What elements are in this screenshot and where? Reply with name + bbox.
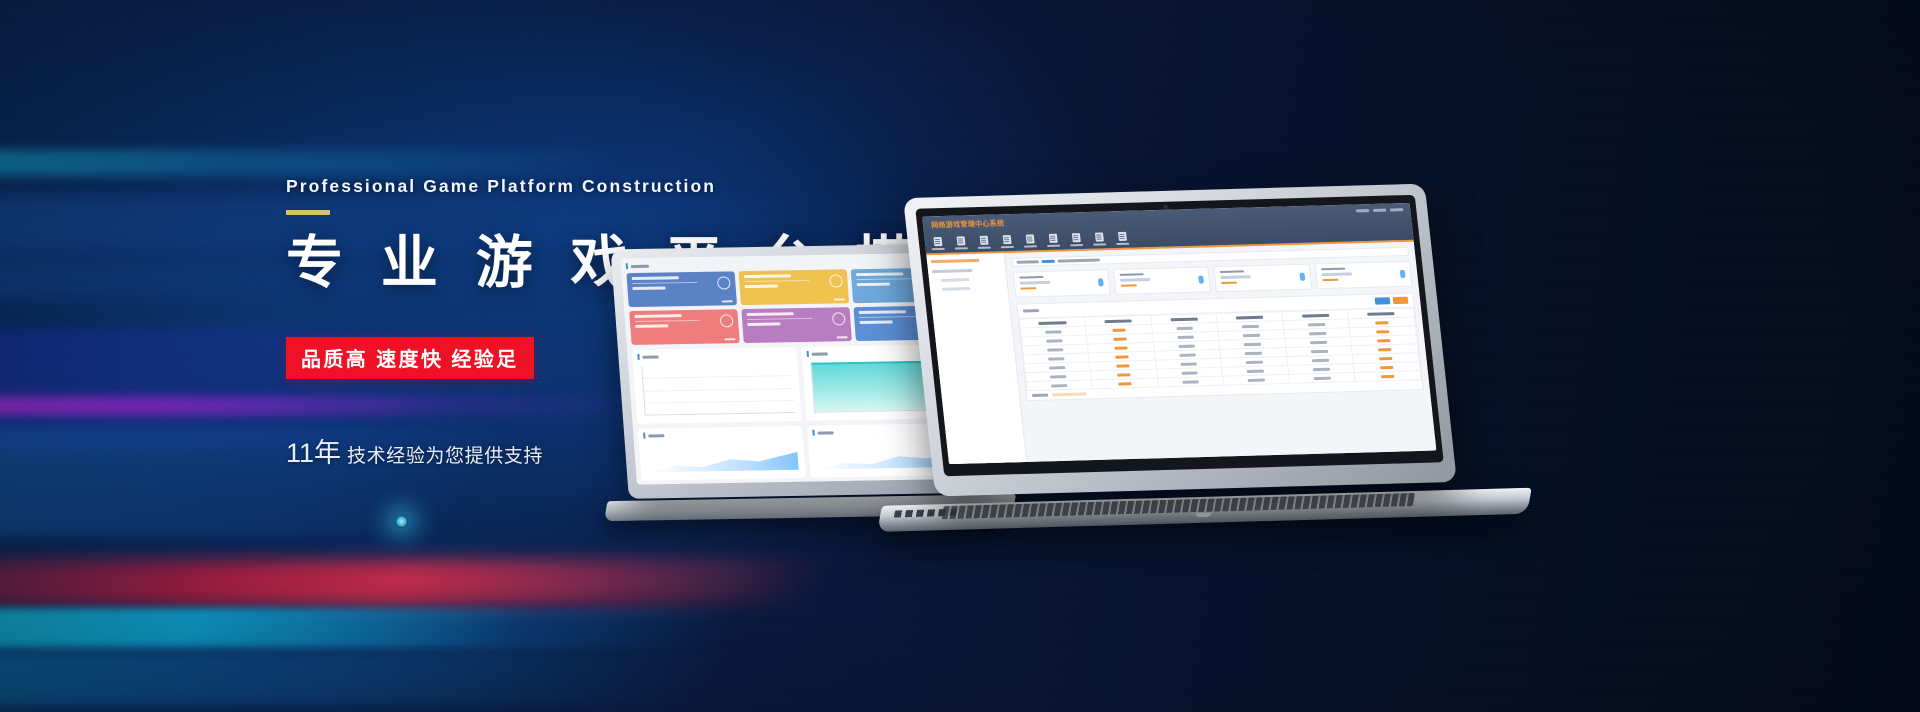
front-laptop: 网络游戏管理中心系统 [903, 184, 1457, 497]
permission-icon [1071, 233, 1080, 242]
gear-icon [1048, 234, 1057, 243]
home-icon [933, 237, 942, 246]
sidebar-item[interactable] [932, 269, 972, 273]
laptop-mockup-group: 网络游戏管理中心系统 [620, 190, 1520, 520]
card-badge-icon [1400, 270, 1406, 278]
dashboard-chart-panels [632, 344, 970, 424]
orders-icon [979, 236, 988, 245]
sidebar-item[interactable] [941, 278, 969, 282]
face-icon [829, 274, 843, 287]
toolbar-item[interactable] [1000, 235, 1014, 249]
table-grid [1019, 308, 1422, 392]
toolbar-item[interactable] [1115, 232, 1129, 246]
gold-rule-divider [286, 210, 330, 215]
report-icon [1002, 235, 1011, 244]
stat-card[interactable] [629, 309, 740, 345]
link-icon [720, 314, 734, 327]
toolbar-item[interactable] [1092, 232, 1106, 246]
data-table [1016, 293, 1424, 402]
chart-panel-line [632, 347, 801, 424]
line-chart-plot [641, 363, 794, 415]
summary-card[interactable] [1113, 266, 1211, 295]
toolbar-item[interactable] [1023, 234, 1037, 248]
toolbar-item[interactable] [930, 237, 944, 251]
sidebar-item[interactable] [942, 287, 970, 291]
summary-card[interactable] [1214, 264, 1312, 293]
table-title [1023, 309, 1039, 312]
tagline-text: 技术经验为您提供支持 [347, 446, 543, 467]
summary-card[interactable] [1314, 261, 1412, 290]
finance-icon [1025, 234, 1034, 243]
users-icon [956, 236, 965, 245]
toolbar-item[interactable] [1046, 234, 1060, 248]
admin-main [1004, 242, 1436, 464]
front-laptop-bezel: 网络游戏管理中心系统 [915, 195, 1443, 476]
stat-card[interactable] [741, 307, 852, 343]
front-laptop-screen: 网络游戏管理中心系统 [922, 203, 1436, 464]
card-badge-icon [1199, 276, 1205, 284]
toolbar-item[interactable] [977, 235, 991, 249]
user-icon [717, 276, 731, 289]
hero-banner: Professional Game Platform Construction … [0, 0, 1920, 712]
trackpad-notch [1195, 513, 1212, 517]
log-icon [1094, 232, 1103, 241]
dashboard-chart-panels-2 [638, 423, 974, 481]
webcam-icon [1163, 205, 1167, 209]
stat-card[interactable] [626, 271, 737, 307]
stat-card-row [1012, 261, 1412, 298]
status-badge: 品质高 速度快 经验足 [286, 337, 534, 379]
admin-body [926, 242, 1436, 464]
card-badge-icon [1098, 279, 1104, 287]
years-count: 11年 [286, 438, 341, 468]
table-search-button[interactable] [1375, 298, 1391, 305]
table-export-button[interactable] [1393, 297, 1409, 304]
summary-card[interactable] [1012, 269, 1110, 298]
stat-card[interactable] [739, 269, 850, 305]
toolbar-item[interactable] [1069, 233, 1083, 247]
export-icon [1117, 232, 1126, 241]
chart-panel-spark-1 [638, 426, 806, 481]
toolbar-item[interactable] [953, 236, 967, 250]
clock-icon [832, 312, 846, 325]
breadcrumb [931, 259, 980, 263]
card-badge-icon [1299, 273, 1305, 281]
front-laptop-lid: 网络游戏管理中心系统 [903, 184, 1457, 497]
